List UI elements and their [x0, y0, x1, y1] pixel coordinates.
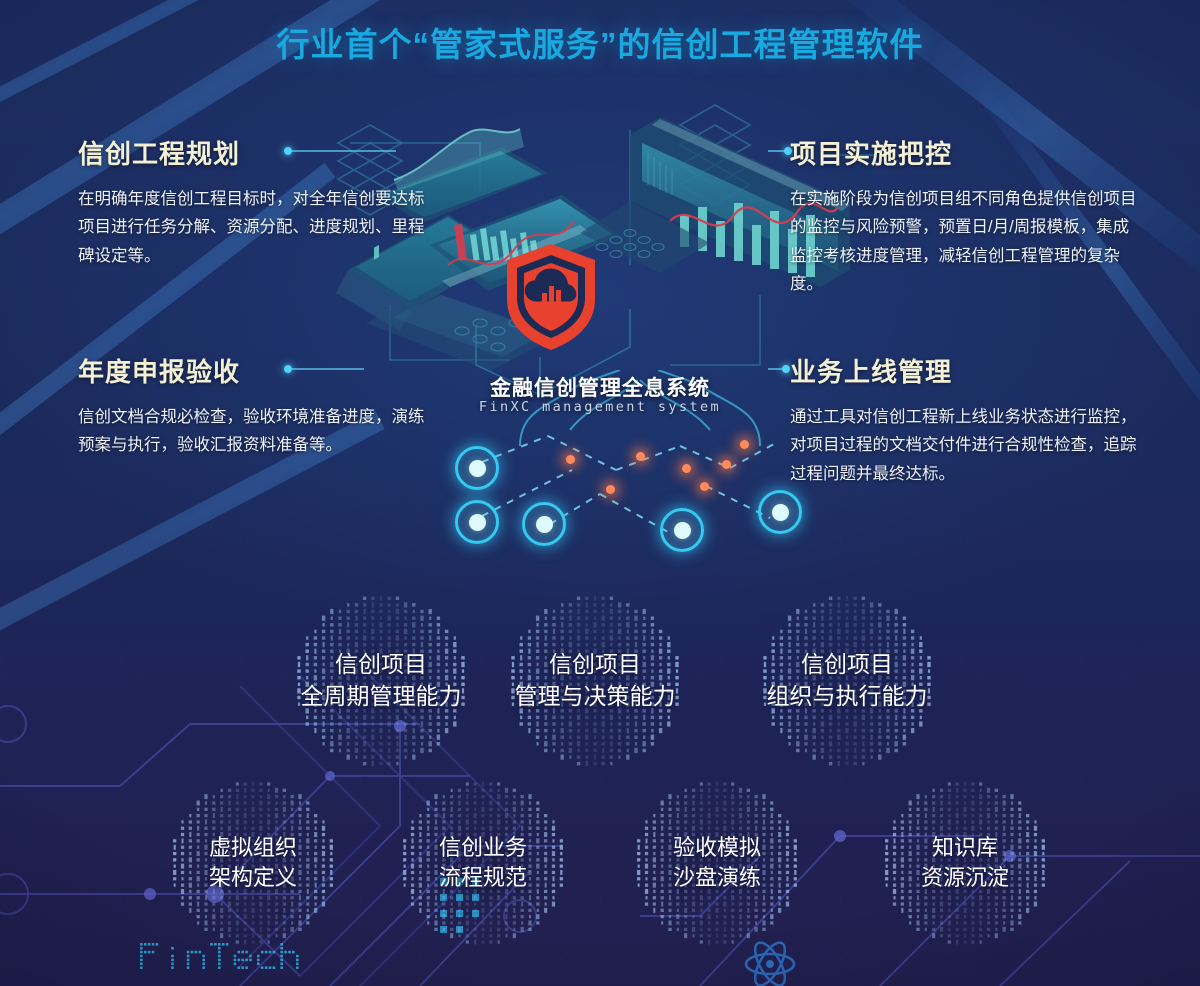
infographic-canvas: 行业首个“管家式服务”的信创工程管理软件 信创工程规划 在明确年度信创工程目标时…: [0, 0, 1200, 986]
capability-orb: 知识库 资源沉淀: [880, 778, 1050, 948]
capability-label: 验收模拟 沙盘演练: [673, 833, 761, 894]
capability-line-1: 虚拟组织: [209, 833, 297, 863]
feature-heading: 项目实施把控: [790, 134, 1150, 171]
capability-orb: 信创项目 组织与执行能力: [758, 592, 936, 770]
network-node: [660, 508, 704, 552]
network-node: [455, 500, 499, 544]
capability-label: 信创项目 管理与决策能力: [515, 649, 676, 712]
capability-line-1: 验收模拟: [673, 833, 761, 863]
system-name-cn: 金融信创管理全息系统: [0, 372, 1200, 402]
fintech-wordmark: [140, 935, 340, 979]
feature-body: 在明确年度信创工程目标时，对全年信创要达标项目进行任务分解、资源分配、进度规划、…: [78, 185, 428, 270]
capability-row-bottom: 虚拟组织 架构定义 信创业务 流程规范 验收模拟 沙盘演练 知识库 资源沉淀: [0, 778, 1200, 958]
network-node: [522, 502, 566, 546]
feature-heading: 信创工程规划: [78, 134, 438, 171]
capability-line-1: 知识库: [921, 833, 1009, 863]
capability-line-2: 资源沉淀: [921, 863, 1009, 893]
page-title: 行业首个“管家式服务”的信创工程管理软件: [0, 18, 1200, 66]
feature-body: 通过工具对信创工程新上线业务状态进行监控，对项目过程的文档交付件进行合规性检查，…: [790, 403, 1140, 488]
spark-dot: [566, 455, 575, 464]
capability-orb: 虚拟组织 架构定义: [168, 778, 338, 948]
spark-dot: [700, 482, 709, 491]
capability-line-1: 信创业务: [439, 833, 527, 863]
capability-orb: 信创项目 管理与决策能力: [506, 592, 684, 770]
spark-dot: [682, 464, 691, 473]
spark-dot: [722, 460, 731, 469]
capability-label: 知识库 资源沉淀: [921, 833, 1009, 894]
capability-line-2: 管理与决策能力: [515, 681, 676, 713]
feature-body: 在实施阶段为信创项目组不同角色提供信创项目的监控与风险预警，预置日/月/周报模板…: [790, 185, 1140, 299]
capability-line-2: 沙盘演练: [673, 863, 761, 893]
capability-label: 虚拟组织 架构定义: [209, 833, 297, 894]
shield-logo-icon: [503, 241, 599, 353]
heading-connector-line: [768, 150, 788, 152]
network-node: [758, 490, 802, 534]
capability-row-mid: 信创项目 全周期管理能力 信创项目 管理与决策能力 信创项目 组织与执行能力: [0, 592, 1200, 782]
feature-block-implementation-control: 项目实施把控 在实施阶段为信创项目组不同角色提供信创项目的监控与风险预警，预置日…: [790, 134, 1150, 299]
spark-dot: [606, 485, 615, 494]
capability-label: 信创业务 流程规范: [439, 833, 527, 894]
capability-line-1: 信创项目: [767, 649, 928, 681]
capability-line-1: 信创项目: [515, 649, 676, 681]
heading-connector-line: [768, 368, 786, 370]
spark-dot: [636, 452, 645, 461]
capability-label: 信创项目 组织与执行能力: [767, 649, 928, 712]
capability-label: 信创项目 全周期管理能力: [301, 649, 462, 712]
capability-orb: 验收模拟 沙盘演练: [632, 778, 802, 948]
feature-block-planning: 信创工程规划 在明确年度信创工程目标时，对全年信创要达标项目进行任务分解、资源分…: [78, 134, 438, 270]
capability-line-2: 流程规范: [439, 863, 527, 893]
capability-orb: 信创项目 全周期管理能力: [292, 592, 470, 770]
capability-line-2: 全周期管理能力: [301, 681, 462, 713]
system-name-en: FinXC management system: [0, 399, 1200, 415]
capability-line-1: 信创项目: [301, 649, 462, 681]
atom-icon: [742, 938, 798, 986]
capability-orb: 信创业务 流程规范: [398, 778, 568, 948]
capability-line-2: 组织与执行能力: [767, 681, 928, 713]
capability-line-2: 架构定义: [209, 863, 297, 893]
network-node: [455, 446, 499, 490]
